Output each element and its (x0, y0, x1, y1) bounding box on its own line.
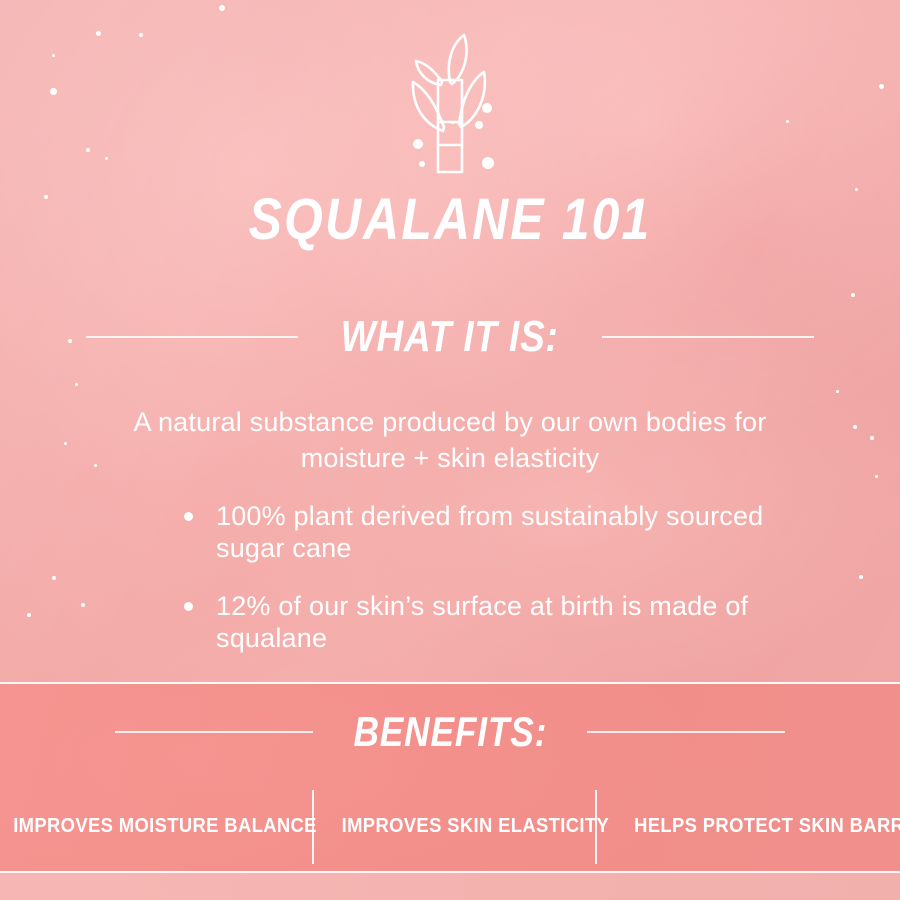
footer-strip (0, 873, 900, 900)
what-it-is-heading-row: WHAT IT IS: (0, 312, 900, 362)
benefit-item-skin-elasticity: IMPROVES SKIN ELASTICITY (342, 815, 609, 838)
list-item-label: 100% plant derived from sustainably sour… (216, 501, 763, 563)
speck (44, 195, 48, 199)
what-it-is-heading: WHAT IT IS: (341, 312, 559, 362)
benefit-separator-1 (312, 790, 314, 864)
list-item-label: 12% of our skin’s surface at birth is ma… (216, 591, 748, 653)
speck (851, 293, 855, 297)
benefit-separator-2 (595, 790, 597, 864)
page-title: SQUALANE 101 (63, 186, 837, 253)
list-item: 100% plant derived from sustainably sour… (180, 500, 780, 564)
speck (27, 613, 31, 617)
bullet-dot-icon (184, 512, 193, 521)
benefits-rule-right (587, 731, 785, 733)
speck (75, 383, 78, 386)
speck (219, 5, 225, 11)
speck (52, 576, 56, 580)
benefits-heading: BENEFITS: (353, 708, 547, 756)
speck (875, 475, 878, 478)
speck (81, 603, 85, 607)
bullet-dot-icon (184, 602, 193, 611)
benefits-list: IMPROVES MOISTURE BALANCE IMPROVES SKIN … (0, 786, 900, 866)
speck (853, 425, 857, 429)
speck (870, 436, 874, 440)
benefit-item-skin-barrier: HELPS PROTECT SKIN BARRIER (634, 815, 900, 838)
infographic-poster: SQUALANE 101 WHAT IT IS: A natural subst… (0, 0, 900, 900)
heading-rule-left (86, 336, 298, 338)
benefits-rule-left (115, 731, 313, 733)
speck (836, 390, 839, 393)
what-it-is-lead: A natural substance produced by our own … (90, 404, 810, 476)
sugar-cane-sprout-icon (0, 32, 900, 178)
speck (859, 575, 863, 579)
what-it-is-bullet-list: 100% plant derived from sustainably sour… (180, 500, 780, 680)
speck (855, 188, 858, 191)
benefit-item-moisture-balance: IMPROVES MOISTURE BALANCE (13, 815, 317, 838)
speck (64, 442, 67, 445)
heading-rule-right (602, 336, 814, 338)
list-item: 12% of our skin’s surface at birth is ma… (180, 590, 780, 654)
benefits-heading-row: BENEFITS: (0, 708, 900, 756)
